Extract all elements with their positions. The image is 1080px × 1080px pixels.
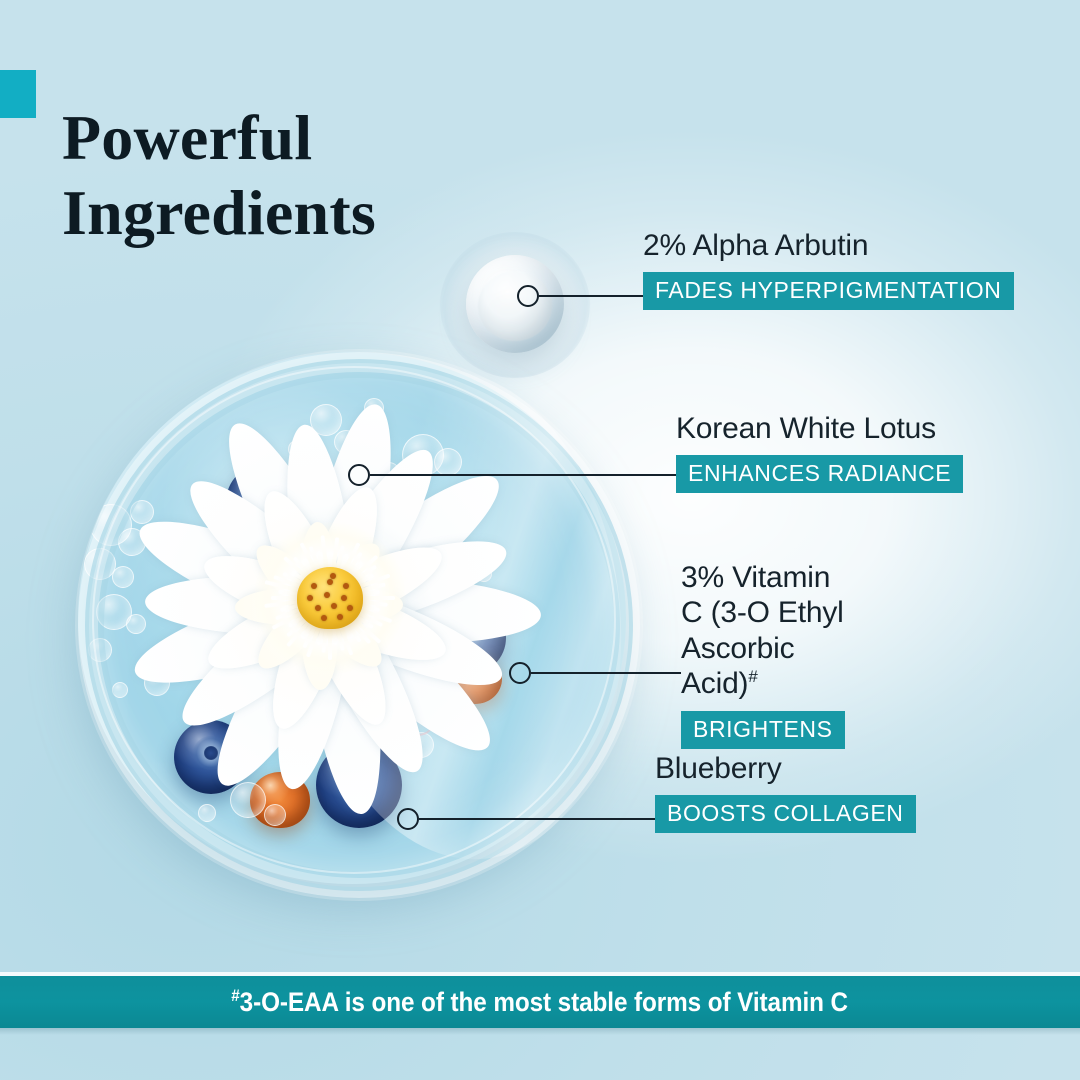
marker-vitamin-c-icon[interactable] <box>509 662 531 684</box>
leader-line-blueberry <box>419 818 657 820</box>
alpha-arbutin-powder-sphere <box>466 255 564 353</box>
white-lotus-flower <box>120 398 540 798</box>
page-title: Powerful Ingredients <box>62 100 682 251</box>
page-title-line-2: Ingredients <box>62 175 682 251</box>
lotus-seed <box>321 615 327 621</box>
water-bubble <box>264 804 286 826</box>
lotus-seed-pod <box>297 567 363 629</box>
water-bubble <box>88 638 112 662</box>
footer-note-text: 3-O-EAA is one of the most stable forms … <box>240 987 848 1017</box>
lotus-seed <box>311 583 317 589</box>
page-title-line-1: Powerful <box>62 100 682 176</box>
lotus-seed <box>307 595 313 601</box>
water-bubble <box>198 804 216 822</box>
callout-korean-white-lotus-text: Korean White Lotus ENHANCES RADIANCE <box>676 411 963 493</box>
callout-vitamin-c-badge: BRIGHTENS <box>681 711 845 749</box>
callout-alpha-arbutin-badge: FADES HYPERPIGMENTATION <box>643 272 1014 310</box>
lotus-seed <box>347 605 353 611</box>
marker-alpha-arbutin-icon[interactable] <box>517 285 539 307</box>
marker-blueberry-icon[interactable] <box>397 808 419 830</box>
callout-blueberry-title: Blueberry <box>655 751 916 786</box>
lotus-seed <box>324 592 330 598</box>
lotus-seed <box>337 614 343 620</box>
marker-korean-white-lotus-icon[interactable] <box>348 464 370 486</box>
callout-vitamin-c-title: 3% Vitamin C (3-O Ethyl Ascorbic Acid)# <box>681 560 845 702</box>
callout-alpha-arbutin-text: 2% Alpha Arbutin FADES HYPERPIGMENTATION <box>643 228 1014 310</box>
lotus-seed <box>315 605 321 611</box>
footer-banner: #3-O-EAA is one of the most stable forms… <box>0 976 1080 1028</box>
infographic-canvas: Powerful Ingredients 2% Alpha Arbutin FA… <box>0 0 1080 1080</box>
leader-line-korean-white-lotus <box>370 474 678 476</box>
callout-vitamin-c-superscript: # <box>748 667 757 686</box>
lotus-seed <box>330 573 336 579</box>
lotus-seed <box>343 583 349 589</box>
callout-alpha-arbutin-title: 2% Alpha Arbutin <box>643 228 1014 263</box>
callout-vitamin-c-title-text: 3% Vitamin C (3-O Ethyl Ascorbic Acid) <box>681 561 844 700</box>
leader-line-alpha-arbutin <box>539 295 649 297</box>
callout-korean-white-lotus-title: Korean White Lotus <box>676 411 963 446</box>
lotus-seed <box>341 595 347 601</box>
callout-vitamin-c-text: 3% Vitamin C (3-O Ethyl Ascorbic Acid)# … <box>681 560 845 749</box>
callout-blueberry-badge: BOOSTS COLLAGEN <box>655 795 916 833</box>
lotus-seed <box>327 579 333 585</box>
leader-line-vitamin-c <box>531 672 681 674</box>
footer-shadow <box>0 1028 1080 1035</box>
lotus-seed <box>331 603 337 609</box>
callout-korean-white-lotus-badge: ENHANCES RADIANCE <box>676 455 963 493</box>
callout-blueberry-text: Blueberry BOOSTS COLLAGEN <box>655 751 916 833</box>
footer-note: #3-O-EAA is one of the most stable forms… <box>232 986 849 1018</box>
accent-square <box>0 70 36 118</box>
